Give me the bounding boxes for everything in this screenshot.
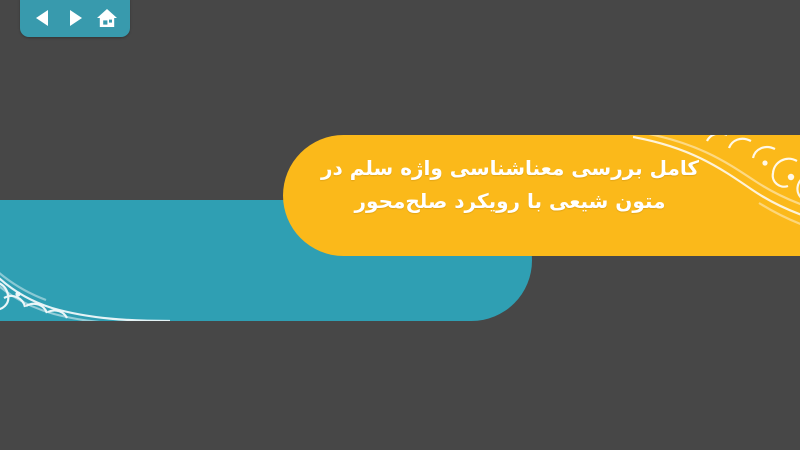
triangle-right-icon: [66, 8, 84, 28]
navigation-bar[interactable]: [20, 0, 130, 37]
forward-button[interactable]: [63, 6, 87, 30]
triangle-left-icon: [34, 8, 52, 28]
slide-canvas: کامل بررسی معناشناسی واژه سلم در متون شی…: [0, 0, 800, 450]
home-button[interactable]: [95, 6, 119, 30]
arabesque-ornament-bottom-left: [0, 200, 170, 321]
back-button[interactable]: [31, 6, 55, 30]
slide-title: کامل بررسی معناشناسی واژه سلم در متون شی…: [300, 152, 720, 218]
home-icon: [96, 8, 118, 29]
